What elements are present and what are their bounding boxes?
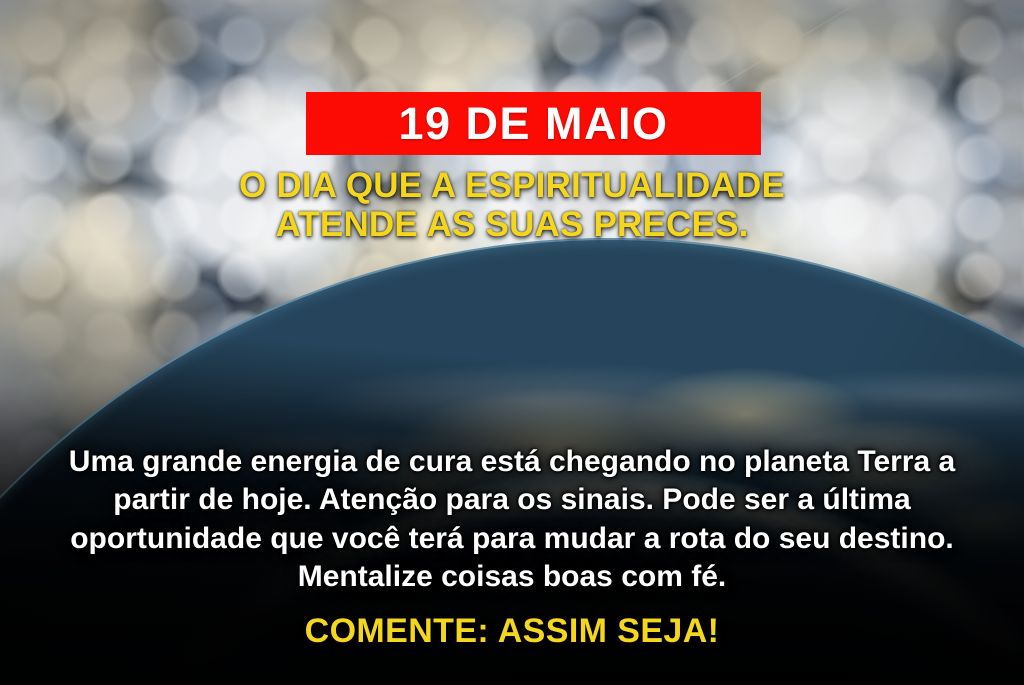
call-to-action-label: COMENTE: ASSIM SEJA! xyxy=(0,612,1024,651)
date-banner-label: 19 DE MAIO xyxy=(398,101,668,146)
headline-line-2: ATENDE AS SUAS PRECES. xyxy=(40,206,984,245)
headline: O DIA QUE A ESPIRITUALIDADE ATENDE AS SU… xyxy=(0,167,1024,244)
headline-line-1: O DIA QUE A ESPIRITUALIDADE xyxy=(40,167,984,206)
poster-image: 19 DE MAIO O DIA QUE A ESPIRITUALIDADE A… xyxy=(0,0,1024,685)
body-paragraph: Uma grande energia de cura está chegando… xyxy=(0,443,1024,597)
date-banner: 19 DE MAIO xyxy=(306,92,761,155)
poster-content: 19 DE MAIO O DIA QUE A ESPIRITUALIDADE A… xyxy=(0,0,1024,685)
